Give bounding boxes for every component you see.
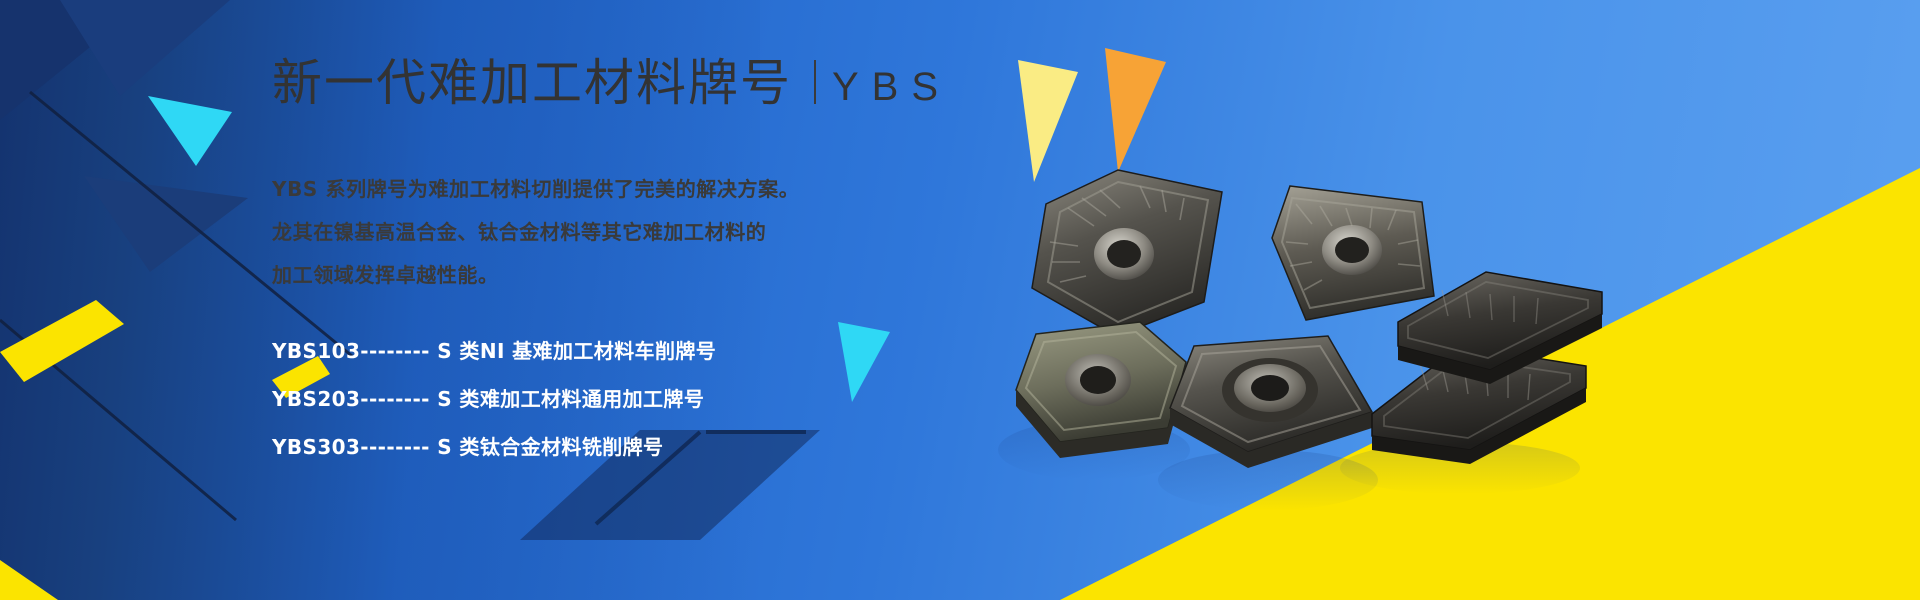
yellow-parallelogram-left xyxy=(0,300,124,382)
model-list: YBS103-------- S 类NI 基难加工材料车削牌号 YBS203--… xyxy=(272,341,1032,457)
heading-title-en: YBS xyxy=(832,67,951,107)
model-item-ybs303: YBS303-------- S 类钛合金材料铣削牌号 xyxy=(272,437,1032,457)
product-image-group xyxy=(990,150,1610,530)
navy-triangle-left-lower xyxy=(84,176,248,272)
round-milling-insert xyxy=(998,322,1190,480)
cyan-triangle-left xyxy=(148,96,232,166)
navy-triangle-upper-left xyxy=(0,0,148,120)
cnmg-rhombic-insert xyxy=(1272,186,1434,320)
square-milling-insert xyxy=(1158,336,1378,510)
wnmg-trigon-insert xyxy=(1032,170,1222,336)
description-line-2: 龙其在镍基高温合金、钛合金材料等其它难加工材料的 xyxy=(272,219,1032,246)
promo-banner: 新一代难加工材料牌号 YBS YBS 系列牌号为难加工材料切削提供了完美的解决方… xyxy=(0,0,1920,600)
heading-divider xyxy=(814,60,816,104)
banner-text-block: 新一代难加工材料牌号 YBS YBS 系列牌号为难加工材料切削提供了完美的解决方… xyxy=(272,56,1032,485)
description-line-1: YBS 系列牌号为难加工材料切削提供了完美的解决方案。 xyxy=(272,176,1032,203)
description-line-3: 加工领域发挥卓越性能。 xyxy=(272,262,1032,289)
banner-heading: 新一代难加工材料牌号 YBS xyxy=(272,56,1032,138)
model-item-ybs103: YBS103-------- S 类NI 基难加工材料车削牌号 xyxy=(272,341,1032,361)
model-item-ybs203: YBS203-------- S 类难加工材料通用加工牌号 xyxy=(272,389,1032,409)
product-inserts-illustration xyxy=(990,150,1610,530)
yellow-triangle-bottom-left xyxy=(0,560,58,600)
heading-title-cn: 新一代难加工材料牌号 xyxy=(272,58,792,108)
banner-description: YBS 系列牌号为难加工材料切削提供了完美的解决方案。 龙其在镍基高温合金、钛合… xyxy=(272,176,1032,289)
navy-triangle-top-strip xyxy=(60,0,230,96)
